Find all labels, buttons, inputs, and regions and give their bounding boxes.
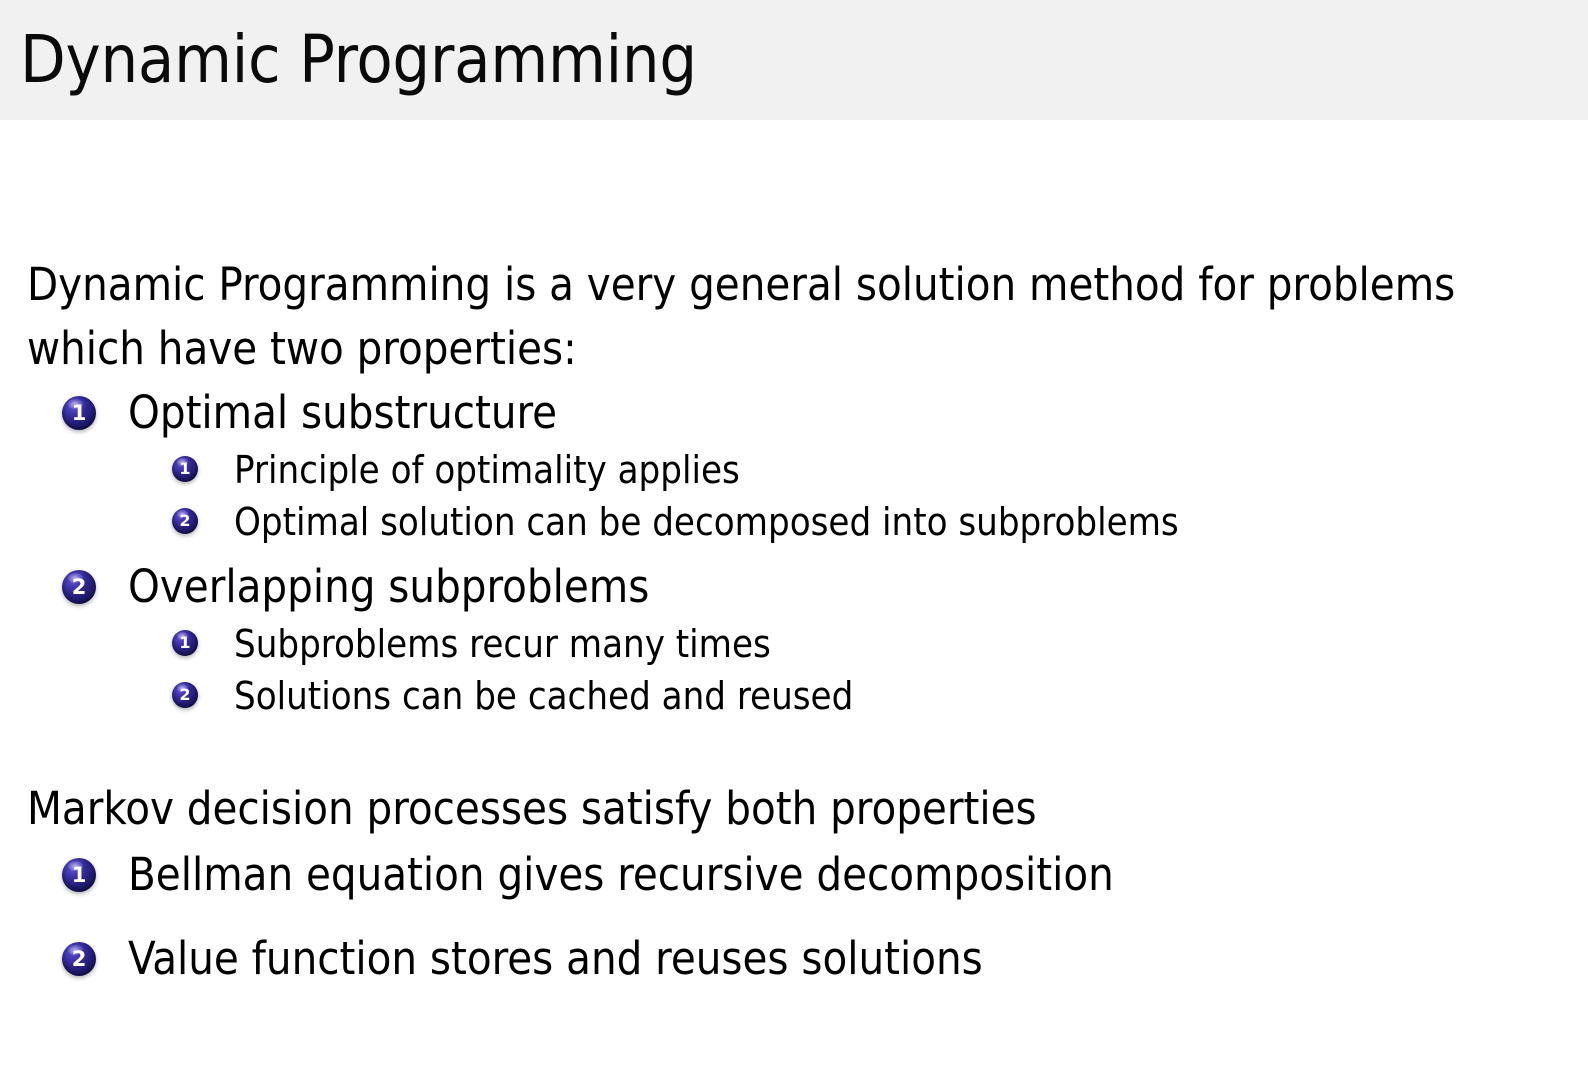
- bullet-number: 1: [62, 396, 96, 430]
- mdp-paragraph: Markov decision processes satisfy both p…: [27, 777, 1532, 841]
- list-item[interactable]: 1 Subproblems recur many times: [0, 618, 1588, 670]
- numbered-bullet-icon: 1: [172, 456, 198, 482]
- slide: Dynamic Programming Dynamic Programming …: [0, 0, 1588, 1080]
- slide-body: Dynamic Programming is a very general so…: [0, 120, 1588, 1080]
- list-item-label: Principle of optimality applies: [234, 444, 740, 496]
- bullet-number: 2: [172, 508, 198, 534]
- numbered-bullet-icon: 1: [62, 396, 96, 430]
- list-spacer: [0, 906, 1588, 928]
- numbered-bullet-icon: 2: [62, 942, 96, 976]
- sub-list: 1 Subproblems recur many times 2 Solutio…: [0, 618, 1588, 722]
- list-item[interactable]: 2 Overlapping subproblems 1 Subproblems …: [0, 556, 1588, 722]
- slide-title-bar: Dynamic Programming: [0, 0, 1588, 120]
- list-item[interactable]: 2 Value function stores and reuses solut…: [0, 928, 1588, 990]
- numbered-bullet-icon: 2: [172, 682, 198, 708]
- numbered-bullet-icon: 2: [172, 508, 198, 534]
- list-item[interactable]: 1 Bellman equation gives recursive decom…: [0, 844, 1588, 906]
- intro-paragraph-line-1: Dynamic Programming is a very general so…: [27, 253, 1532, 317]
- bullet-number: 2: [62, 570, 96, 604]
- bullet-number: 1: [172, 456, 198, 482]
- list-item[interactable]: 2 Optimal solution can be decomposed int…: [0, 496, 1588, 548]
- list-item-label: Value function stores and reuses solutio…: [128, 928, 983, 990]
- intro-paragraph-line-2: which have two properties:: [27, 317, 1532, 381]
- list-item[interactable]: 2 Solutions can be cached and reused: [0, 670, 1588, 722]
- properties-list: 1 Optimal substructure 1 Principle of op…: [0, 382, 1588, 722]
- bullet-number: 2: [62, 942, 96, 976]
- list-spacer: [0, 548, 1588, 556]
- numbered-bullet-icon: 2: [62, 570, 96, 604]
- list-item-label: Overlapping subproblems: [128, 556, 649, 618]
- list-item[interactable]: 1 Optimal substructure 1 Principle of op…: [0, 382, 1588, 548]
- list-item-label: Subproblems recur many times: [234, 618, 771, 670]
- sub-list: 1 Principle of optimality applies 2 Opti…: [0, 444, 1588, 548]
- list-item[interactable]: 1 Principle of optimality applies: [0, 444, 1588, 496]
- numbered-bullet-icon: 1: [172, 630, 198, 656]
- bullet-number: 1: [62, 858, 96, 892]
- list-item-label: Optimal solution can be decomposed into …: [234, 496, 1179, 548]
- mdp-paragraph-text: Markov decision processes satisfy both p…: [27, 777, 1532, 841]
- list-item-label: Solutions can be cached and reused: [234, 670, 853, 722]
- numbered-bullet-icon: 1: [62, 858, 96, 892]
- bullet-number: 1: [172, 630, 198, 656]
- page-title: Dynamic Programming: [20, 14, 697, 106]
- mdp-properties-list: 1 Bellman equation gives recursive decom…: [0, 844, 1588, 990]
- list-item-label: Bellman equation gives recursive decompo…: [128, 844, 1114, 906]
- bullet-number: 2: [172, 682, 198, 708]
- list-item-label: Optimal substructure: [128, 382, 557, 444]
- intro-paragraph: Dynamic Programming is a very general so…: [27, 253, 1532, 381]
